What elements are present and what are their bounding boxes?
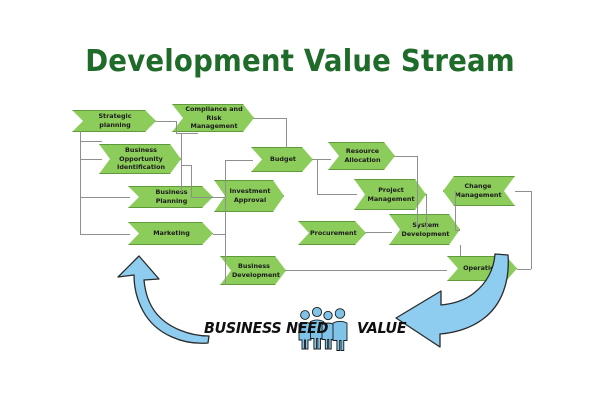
connector-line <box>317 159 318 194</box>
connector-line <box>426 194 427 230</box>
connector-line <box>317 194 357 195</box>
process-node-business-development[interactable]: Business Development <box>220 256 286 285</box>
process-node-label: Business Opportunity Identification <box>111 146 171 172</box>
process-node-business-opportunity[interactable]: Business Opportunity Identification <box>99 144 181 174</box>
process-node-label: Compliance and Risk Management <box>184 105 244 131</box>
connector-line <box>225 160 253 161</box>
value-label: VALUE <box>357 319 406 337</box>
connector-line <box>191 165 192 197</box>
connector-line <box>517 269 531 270</box>
process-node-procurement[interactable]: Procurement <box>298 221 366 245</box>
connector-line <box>213 234 225 235</box>
connector-line <box>213 197 225 198</box>
connector-line <box>515 191 531 192</box>
connector-line <box>80 141 102 142</box>
process-node-compliance-risk[interactable]: Compliance and Risk Management <box>172 104 254 132</box>
diagram-canvas: Development Value Stream Strategic plann… <box>0 0 600 403</box>
process-node-label: Marketing <box>140 229 203 238</box>
curved-arrow-left-icon <box>390 253 515 348</box>
connector-line <box>181 165 191 166</box>
connector-line <box>225 160 226 285</box>
connector-line <box>181 133 182 193</box>
connector-line <box>531 191 532 269</box>
process-node-label: Budget <box>263 155 303 164</box>
process-node-strategic-planning[interactable]: Strategic planning <box>72 110 156 132</box>
connector-line <box>254 118 286 119</box>
connector-line <box>455 191 456 230</box>
process-node-resource-allocation[interactable]: Resource Allocation <box>328 142 395 170</box>
process-node-label: Procurement <box>310 229 356 238</box>
connector-line <box>80 131 81 235</box>
process-node-label: Investment Approval <box>226 187 274 204</box>
process-node-budget[interactable]: Budget <box>251 147 313 172</box>
process-node-marketing[interactable]: Marketing <box>128 222 213 245</box>
connector-line <box>156 121 176 122</box>
business-need-label: BUSINESS NEED <box>204 319 328 337</box>
process-node-label: Change Management <box>453 182 503 199</box>
connector-line <box>366 232 392 233</box>
curved-arrow-up-icon <box>112 255 212 350</box>
connector-line <box>191 197 215 198</box>
connector-line <box>80 234 130 235</box>
page-title: Development Value Stream <box>24 44 576 79</box>
process-node-project-management[interactable]: Project Management <box>354 179 426 210</box>
process-node-system-development[interactable]: System Development <box>389 214 460 245</box>
process-node-label: Strategic planning <box>84 112 146 129</box>
connector-line <box>80 197 130 198</box>
process-node-label: Project Management <box>366 186 416 203</box>
connector-line <box>286 118 287 148</box>
connector-line <box>417 156 418 229</box>
connector-line <box>176 133 198 134</box>
connector-line <box>395 156 417 157</box>
connector-line <box>313 159 331 160</box>
process-node-change-management[interactable]: Change Management <box>443 176 515 206</box>
connector-line <box>455 230 460 231</box>
connector-line <box>80 159 102 160</box>
process-node-label: Resource Allocation <box>340 147 385 164</box>
process-node-label: Business Development <box>232 262 276 279</box>
connector-line <box>176 121 177 133</box>
